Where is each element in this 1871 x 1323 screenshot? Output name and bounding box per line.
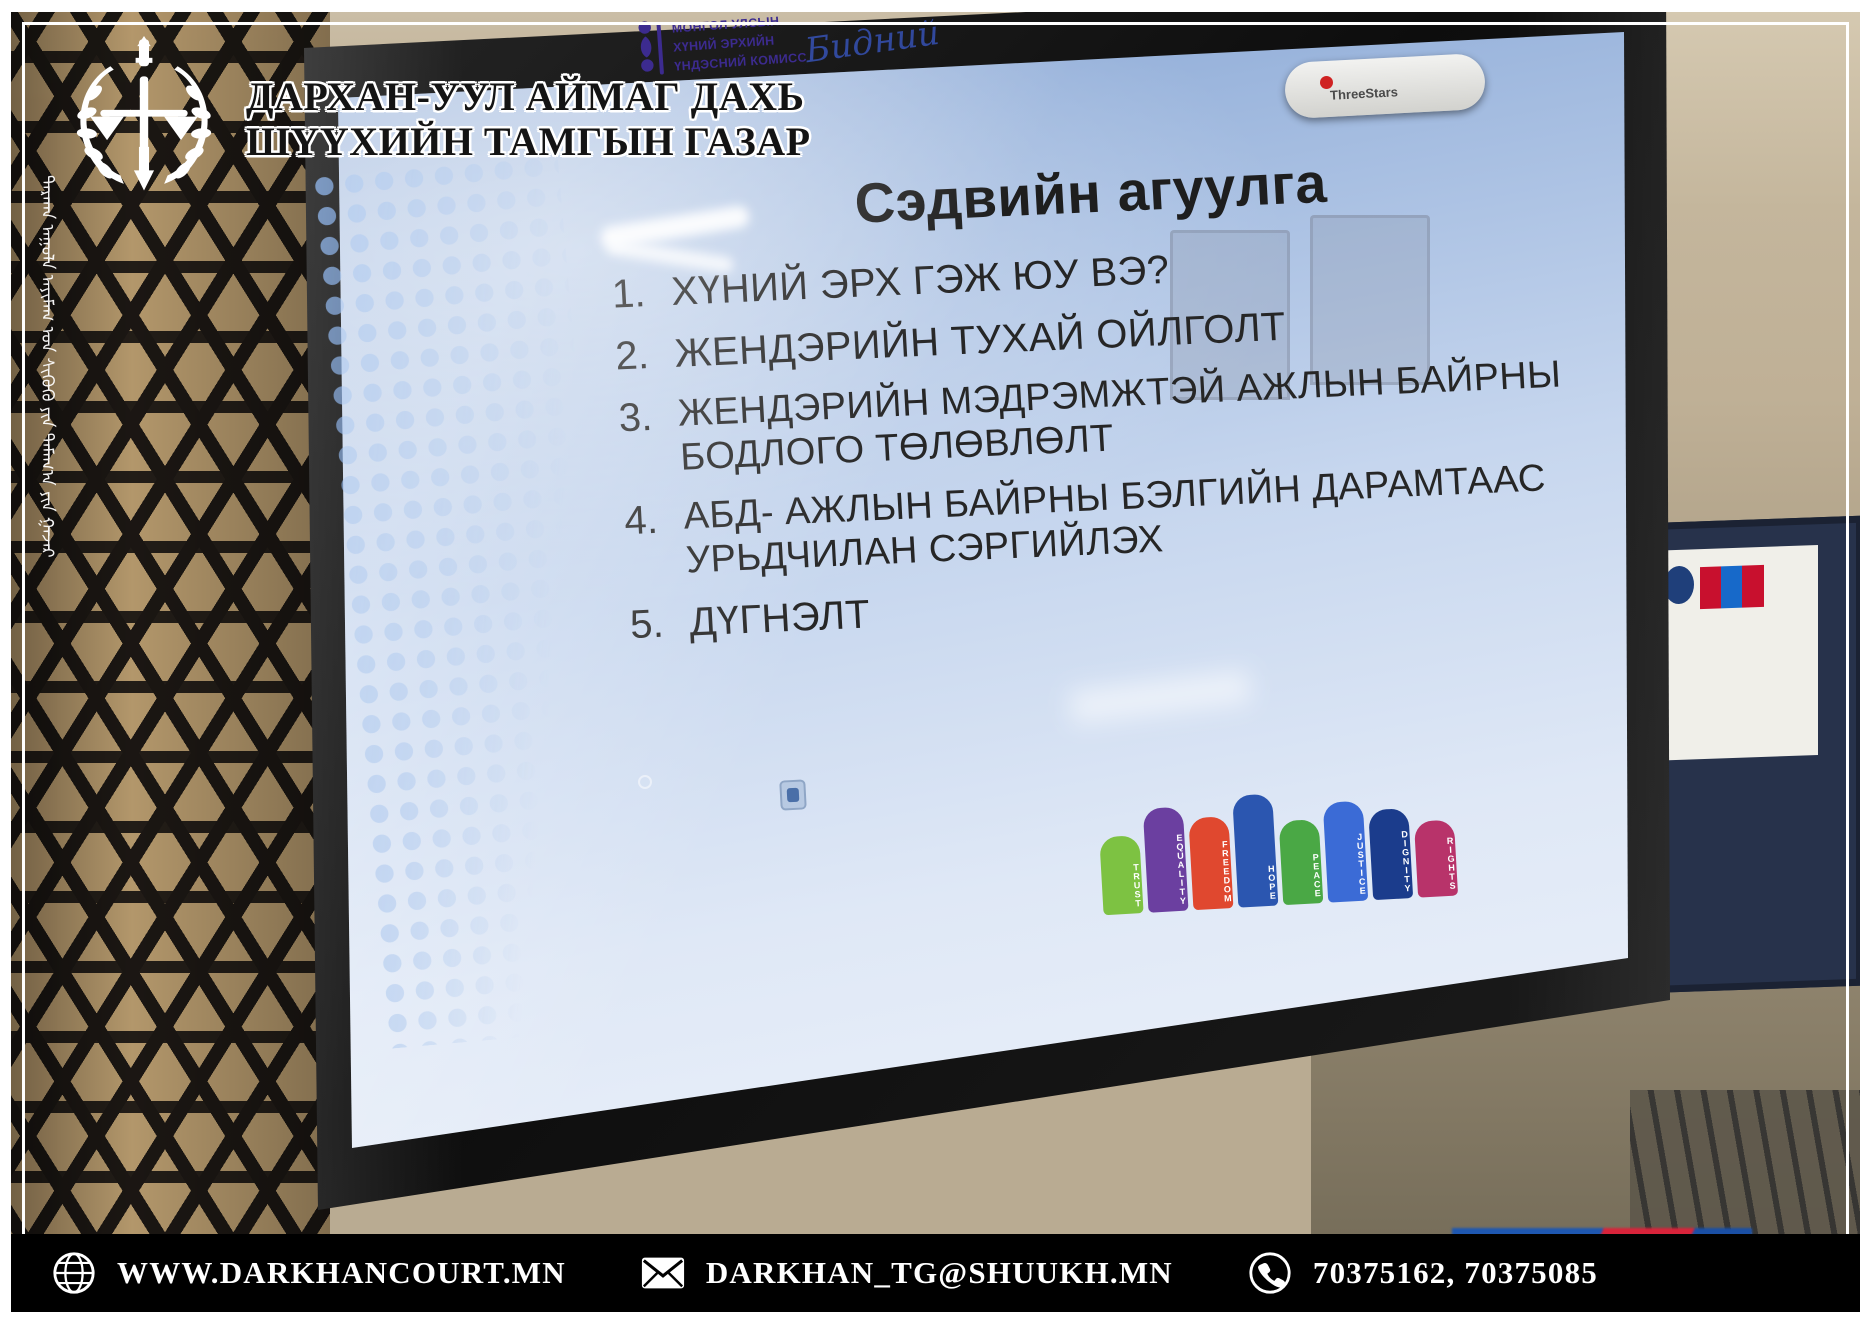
footer-email-text: DARKHAN_TG@SHUUKH.MN <box>706 1255 1173 1291</box>
hand-icon: JUSTICE <box>1323 801 1369 903</box>
list-item-number: 2. <box>591 332 649 380</box>
footer-website-text: WWW.DARKHANCOURT.MN <box>117 1255 566 1291</box>
hand-icon: FREEDOM <box>1188 816 1233 910</box>
mongolian-vertical-script: ᠳᠠᠷᠬᠠᠨ ᠠᠭᠤᠯᠠ ᠠᠶᠢᠮᠠᠭ ᠤᠨ ᠰᠢᠭᠦᠬᠦ ᠶᠢᠨ ᠲᠠᠮᠠᠭ᠎… <box>32 175 76 945</box>
list-item-number: 5. <box>606 600 664 648</box>
list-item-text: ЖЕНДЭРИЙН ТУХАЙ ОЙЛГОЛТ <box>673 304 1287 377</box>
envelope-icon <box>640 1250 686 1296</box>
hand-label: TRUST <box>1101 862 1143 909</box>
globe-icon <box>51 1250 97 1296</box>
hand-label: DIGNITY <box>1369 829 1412 894</box>
org-title-line-2: ШҮҮХИЙН ТАМГЫН ГАЗАР <box>246 120 811 165</box>
list-item-number: 3. <box>595 394 656 484</box>
hand-icon: PEACE <box>1279 819 1324 905</box>
phone-icon <box>1247 1250 1293 1296</box>
hand-label: RIGHTS <box>1415 836 1458 892</box>
list-item-text: ДҮГНЭЛТ <box>688 591 871 645</box>
page-title: ДАРХАН-УУЛ АЙМАГ ДАХЬ ШҮҮХИЙН ТАМГЫН ГАЗ… <box>246 75 811 165</box>
org-title-line-1: ДАРХАН-УУЛ АЙМАГ ДАХЬ <box>246 75 811 120</box>
poster-flag-icon <box>1700 565 1764 609</box>
hand-icon: RIGHTS <box>1414 820 1458 898</box>
scales-of-justice-emblem-icon <box>60 36 228 204</box>
hand-label: PEACE <box>1281 852 1323 899</box>
hand-label: FREEDOM <box>1190 839 1233 904</box>
hand-label: HOPE <box>1236 864 1278 902</box>
image-frame-top-bar <box>0 0 1871 12</box>
power-indicator-icon <box>779 779 807 810</box>
list-item-number: 1. <box>588 270 646 318</box>
hand-label: JUSTICE <box>1324 832 1367 897</box>
header: ДАРХАН-УУЛ АЙМАГ ДАХЬ ШҮҮХИЙН ТАМГЫН ГАЗ… <box>60 36 811 204</box>
hand-icon: EQUALITY <box>1143 807 1189 913</box>
slide-title: Сэдвийн агуулга <box>853 150 1329 236</box>
hand-icon: HOPE <box>1232 794 1278 908</box>
footer-website[interactable]: WWW.DARKHANCOURT.MN <box>51 1250 566 1296</box>
footer-email[interactable]: DARKHAN_TG@SHUUKH.MN <box>640 1250 1173 1296</box>
raised-hands-graphic: TRUST EQUALITY FREEDOM HOPE PEACE JUSTIC… <box>1097 775 1473 915</box>
hand-label: EQUALITY <box>1144 833 1188 907</box>
footer-phone-text: 70375162, 70375085 <box>1313 1255 1598 1291</box>
list-item-number: 4. <box>601 497 662 587</box>
footer-contact-bar: WWW.DARKHANCOURT.MN DARKHAN_TG@SHUUKH.MN… <box>11 1234 1860 1312</box>
list-item-text: ХҮНИЙ ЭРХ ГЭЖ ЮУ ВЭ? <box>670 247 1170 315</box>
home-button-icon[interactable] <box>638 775 652 789</box>
hand-icon: TRUST <box>1099 835 1143 915</box>
hand-icon: DIGNITY <box>1368 808 1413 900</box>
slide-agenda-list: 1. ХҮНИЙ ЭРХ ГЭЖ ЮУ ВЭ? 2. ЖЕНДЭРИЙН ТУХ… <box>588 228 1619 665</box>
footer-phone[interactable]: 70375162, 70375085 <box>1247 1250 1598 1296</box>
